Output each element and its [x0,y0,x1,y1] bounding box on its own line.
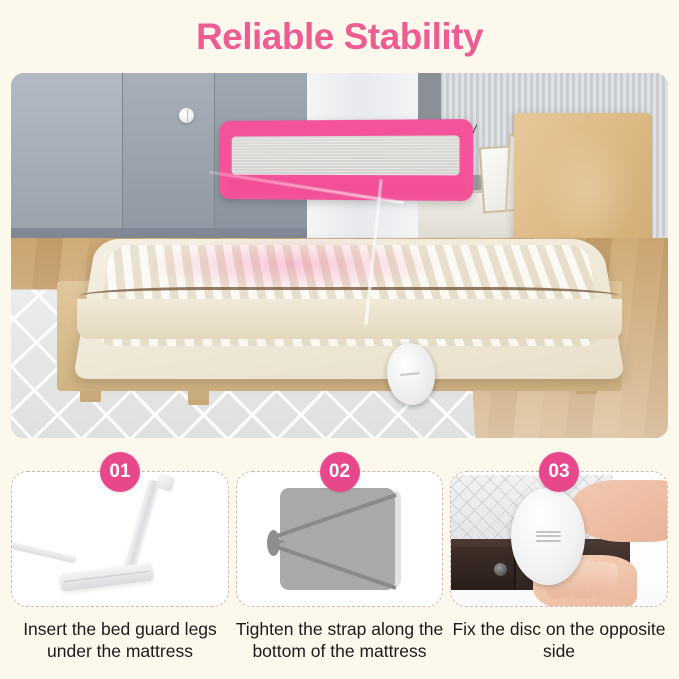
leg-base-bar [59,563,153,592]
wardrobe-panel [123,73,215,234]
wardrobe-knob-icon [179,108,194,123]
wardrobe-panel [11,73,123,234]
diagram-mattress [280,488,395,590]
page-title: Reliable Stability [0,16,679,58]
step-caption-03: Fix the disc on the opposite side [446,618,672,662]
pink-bed-guard-rail [219,119,473,201]
rail-reflection [142,237,444,292]
hand-upper [572,480,667,542]
leg-arm [11,540,77,564]
step-badge-02: 02 [320,452,360,492]
leg-shaft [125,479,161,570]
bed-guard-leg-illustration [12,472,228,606]
disc-slot [536,531,561,533]
step-badge-03: 03 [539,452,579,492]
step-caption-02: Tighten the strap along the bottom of th… [232,618,447,662]
product-infographic: Reliable Stability [0,0,679,679]
mattress-side [77,299,622,339]
disc-photo-illustration [451,472,667,606]
diagram-disc [267,530,280,556]
disc-slot [536,540,561,542]
photo-anchor-disc [511,488,584,584]
step-caption-01: Insert the bed guard legs under the matt… [7,618,233,662]
rail-mesh-panel [231,136,459,175]
strap-diagram-illustration [237,472,442,606]
disc-slot [536,535,561,537]
steps-row: 01 Insert the bed guard legs under the m… [0,452,679,679]
step-badge-01: 01 [100,452,140,492]
hero-photo [11,73,668,438]
